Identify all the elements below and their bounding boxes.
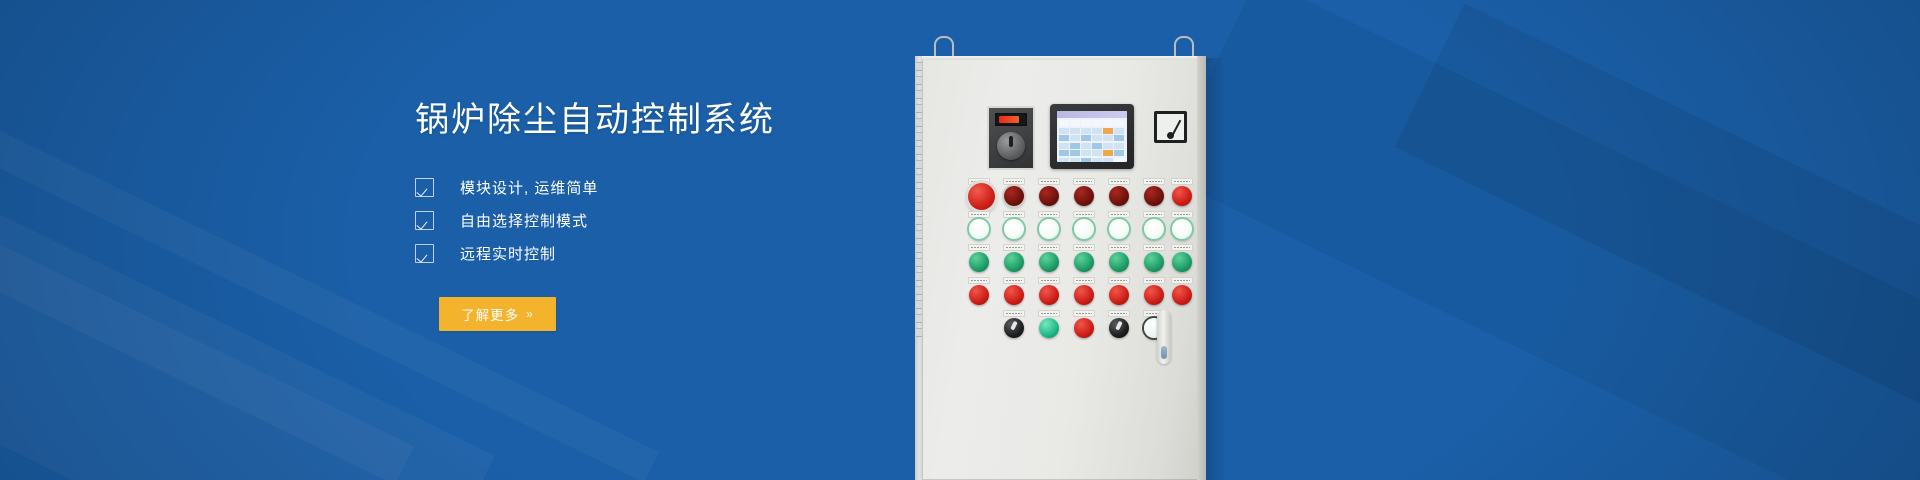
button-cap	[1109, 252, 1129, 272]
button-cap	[1172, 219, 1192, 239]
button-cap	[1172, 186, 1192, 206]
banner-copy: 锅炉除尘自动控制系统 模块设计, 运维简单 自由选择控制模式 远程实时控制 了解…	[415, 100, 935, 331]
button-cap	[1074, 186, 1094, 206]
cabinet-drop-shadow	[1206, 58, 1226, 480]
button-cap	[1109, 186, 1129, 206]
indicator-lamp[interactable]	[1171, 277, 1193, 305]
button-label-tag	[1171, 277, 1193, 284]
indicator-lamp[interactable]	[1108, 244, 1130, 272]
button-label-tag	[968, 244, 990, 251]
button-cap	[1004, 219, 1024, 239]
learn-more-label: 了解更多	[461, 304, 519, 324]
button-cap	[1039, 285, 1059, 305]
indicator-lamp[interactable]	[1038, 178, 1060, 206]
button-label-tag	[1108, 277, 1130, 284]
button-cap	[1074, 219, 1094, 239]
button-cap	[1074, 285, 1094, 305]
indicator-lamp[interactable]	[1038, 244, 1060, 272]
button-cap	[1039, 219, 1059, 239]
button-cap	[969, 219, 989, 239]
indicator-lamp[interactable]	[1038, 310, 1060, 338]
button-cap	[969, 252, 989, 272]
button-cap	[1144, 252, 1164, 272]
control-cabinet-photo	[912, 0, 1412, 480]
button-label-tag	[1108, 244, 1130, 251]
button-label-tag	[1108, 211, 1130, 218]
button-label-tag	[1143, 244, 1165, 251]
button-label-tag	[1143, 277, 1165, 284]
indicator-lamp[interactable]	[968, 211, 990, 239]
chevron-right-icon: »	[526, 307, 534, 321]
button-cap	[1004, 252, 1024, 272]
indicator-lamp[interactable]	[1108, 178, 1130, 206]
pushbutton[interactable]	[1003, 178, 1025, 206]
indicator-lamp[interactable]	[1073, 244, 1095, 272]
button-label-tag	[1108, 310, 1130, 317]
button-label-tag	[1038, 211, 1060, 218]
button-label-tag	[1073, 310, 1095, 317]
list-item-label: 自由选择控制模式	[460, 210, 588, 231]
button-label-tag	[1073, 211, 1095, 218]
indicator-lamp[interactable]	[968, 277, 990, 305]
door-handle[interactable]	[1157, 310, 1171, 364]
button-label-tag	[1038, 244, 1060, 251]
button-label-tag	[1171, 178, 1193, 185]
button-cap	[969, 285, 989, 305]
indicator-lamp[interactable]	[1003, 277, 1025, 305]
button-cap	[1004, 285, 1024, 305]
list-item: 模块设计, 运维简单	[415, 171, 935, 204]
list-item-label: 远程实时控制	[460, 243, 556, 264]
button-label-tag	[1171, 211, 1193, 218]
button-label-tag	[1073, 277, 1095, 284]
button-label-tag	[1003, 178, 1025, 185]
list-item: 自由选择控制模式	[415, 204, 935, 237]
feature-list: 模块设计, 运维简单 自由选择控制模式 远程实时控制	[415, 171, 935, 270]
button-label-tag	[1038, 178, 1060, 185]
button-cap	[968, 183, 995, 210]
button-cap	[1109, 219, 1129, 239]
indicator-lamp[interactable]	[1143, 244, 1165, 272]
button-cap	[1039, 318, 1059, 338]
selector-switch[interactable]	[1108, 310, 1130, 338]
learn-more-button[interactable]: 了解更多 »	[439, 297, 556, 331]
button-cap	[1109, 318, 1129, 338]
list-item-label: 模块设计, 运维简单	[460, 177, 598, 198]
button-label-tag	[1003, 244, 1025, 251]
indicator-lamp[interactable]	[1073, 211, 1095, 239]
indicator-lamp[interactable]	[1171, 244, 1193, 272]
button-cap	[1144, 285, 1164, 305]
button-cap	[1109, 285, 1129, 305]
indicator-lamp[interactable]	[1143, 178, 1165, 206]
button-label-tag	[1073, 178, 1095, 185]
button-label-tag	[1003, 310, 1025, 317]
indicator-lamp[interactable]	[1003, 244, 1025, 272]
button-label-tag	[1073, 244, 1095, 251]
button-label-tag	[1038, 310, 1060, 317]
page-title: 锅炉除尘自动控制系统	[415, 100, 935, 141]
button-cap	[1074, 252, 1094, 272]
indicator-lamp[interactable]	[1073, 277, 1095, 305]
button-cap	[1172, 285, 1192, 305]
button-cap	[1144, 219, 1164, 239]
indicator-lamp[interactable]	[1143, 211, 1165, 239]
button-cap	[1144, 186, 1164, 206]
button-label-tag	[1108, 178, 1130, 185]
indicator-lamp[interactable]	[1108, 211, 1130, 239]
button-cap	[1039, 252, 1059, 272]
button-cap	[1004, 186, 1024, 206]
cabinet-door	[922, 56, 1206, 480]
indicator-lamp[interactable]	[1073, 178, 1095, 206]
button-label-tag	[1003, 277, 1025, 284]
indicator-lamp[interactable]	[1143, 277, 1165, 305]
checkbox-checked-icon	[415, 211, 434, 230]
button-label-tag	[1038, 277, 1060, 284]
indicator-lamp[interactable]	[1171, 178, 1193, 206]
button-cap	[1039, 186, 1059, 206]
button-label-tag	[1143, 211, 1165, 218]
indicator-lamp[interactable]	[1038, 211, 1060, 239]
indicator-lamp[interactable]	[1171, 211, 1193, 239]
selector-switch[interactable]	[1003, 310, 1025, 338]
button-cap	[1074, 318, 1094, 338]
indicator-lamp[interactable]	[1003, 211, 1025, 239]
indicator-lamp[interactable]	[1073, 310, 1095, 338]
indicator-lamp[interactable]	[1038, 277, 1060, 305]
indicator-lamp[interactable]	[1108, 277, 1130, 305]
button-label-tag	[1171, 244, 1193, 251]
button-label-tag	[968, 277, 990, 284]
button-label-tag	[1143, 178, 1165, 185]
pushbutton-grid	[922, 56, 1206, 480]
checkbox-checked-icon	[415, 178, 434, 197]
button-label-tag	[968, 211, 990, 218]
emergency-stop-button[interactable]	[968, 178, 990, 210]
checkbox-checked-icon	[415, 244, 434, 263]
indicator-lamp[interactable]	[968, 244, 990, 272]
button-cap	[1172, 252, 1192, 272]
hero-banner: 锅炉除尘自动控制系统 模块设计, 运维简单 自由选择控制模式 远程实时控制 了解…	[0, 0, 1920, 480]
button-label-tag	[1003, 211, 1025, 218]
button-cap	[1004, 318, 1024, 338]
list-item: 远程实时控制	[415, 237, 935, 270]
